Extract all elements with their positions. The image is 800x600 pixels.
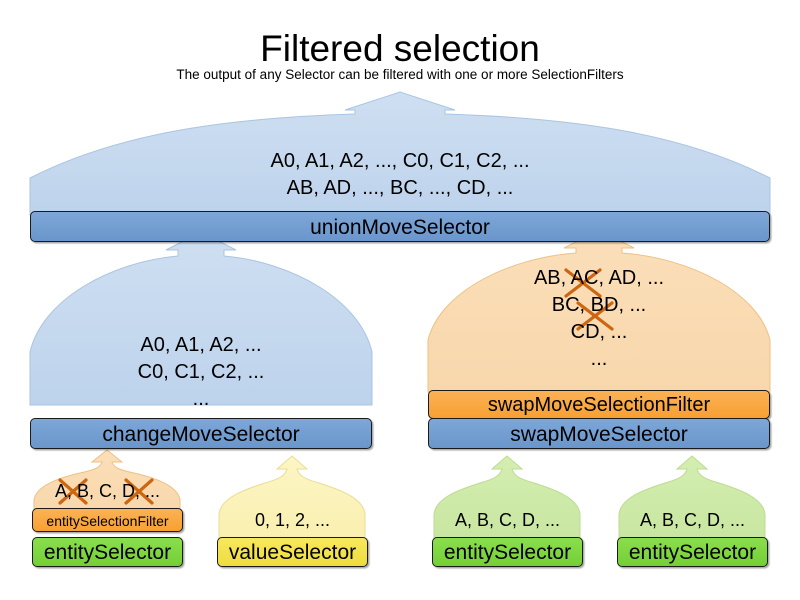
entity-selector-swap-right-label: entitySelector bbox=[618, 538, 767, 567]
page-title: Filtered selection bbox=[0, 30, 800, 67]
change-pool-line: C0, C1, C2, ... bbox=[30, 359, 372, 386]
swap-move-selector-pool-text: AB, AC, AD, ... BC, BD, ... CD, ... ... bbox=[428, 265, 770, 373]
entity-swap-left-pool-line: A, B, C, D, ... bbox=[430, 508, 585, 533]
swap-move-selection-filter-bar[interactable]: swapMoveSelectionFilter bbox=[428, 390, 770, 419]
swap-move-selector-label: swapMoveSelector bbox=[429, 420, 769, 449]
change-pool-line: ... bbox=[30, 386, 372, 413]
value-pool-line: 0, 1, 2, ... bbox=[215, 508, 370, 533]
swap-pool-line: CD, ... bbox=[428, 319, 770, 346]
filtered-selection-diagram: Filtered selection The output of any Sel… bbox=[0, 0, 800, 600]
value-selector-label: valueSelector bbox=[218, 538, 367, 567]
swap-move-selector-bar[interactable]: swapMoveSelector bbox=[428, 418, 770, 449]
union-move-selector-bar[interactable]: unionMoveSelector bbox=[30, 211, 770, 242]
entity-selector-swap-right-bar[interactable]: entitySelector bbox=[617, 537, 768, 567]
page-subtitle: The output of any Selector can be filter… bbox=[0, 68, 800, 82]
entity-filtered-pool-line: A, B, C, D, ... bbox=[30, 479, 185, 504]
union-pool-line: AB, AD, ..., BC, ..., CD, ... bbox=[30, 175, 770, 202]
entity-selector-filtered-bar[interactable]: entitySelector bbox=[32, 537, 183, 567]
change-move-selector-label: changeMoveSelector bbox=[31, 420, 371, 449]
change-pool-line: A0, A1, A2, ... bbox=[30, 332, 372, 359]
swap-pool-line: AB, AC, AD, ... bbox=[428, 265, 770, 292]
value-selector-bar[interactable]: valueSelector bbox=[217, 537, 368, 567]
union-pool-line: A0, A1, A2, ..., C0, C1, C2, ... bbox=[30, 148, 770, 175]
swap-pool-line: BC, BD, ... bbox=[428, 292, 770, 319]
entity-selector-swap-left-label: entitySelector bbox=[433, 538, 582, 567]
union-move-selector-pool-text: A0, A1, A2, ..., C0, C1, C2, ... AB, AD,… bbox=[30, 148, 770, 202]
union-move-selector-label: unionMoveSelector bbox=[31, 213, 769, 242]
entity-selector-swap-left-bar[interactable]: entitySelector bbox=[432, 537, 583, 567]
entity-selection-filter-bar[interactable]: entitySelectionFilter bbox=[32, 508, 183, 532]
entity-selection-filter-label: entitySelectionFilter bbox=[33, 509, 182, 533]
entity-selector-filtered-label: entitySelector bbox=[33, 538, 182, 567]
swap-move-selection-filter-label: swapMoveSelectionFilter bbox=[429, 391, 769, 420]
swap-pool-line: ... bbox=[428, 346, 770, 373]
change-move-selector-bar[interactable]: changeMoveSelector bbox=[30, 418, 372, 449]
change-move-selector-pool-text: A0, A1, A2, ... C0, C1, C2, ... ... bbox=[30, 332, 372, 413]
entity-swap-right-pool-line: A, B, C, D, ... bbox=[615, 508, 770, 533]
